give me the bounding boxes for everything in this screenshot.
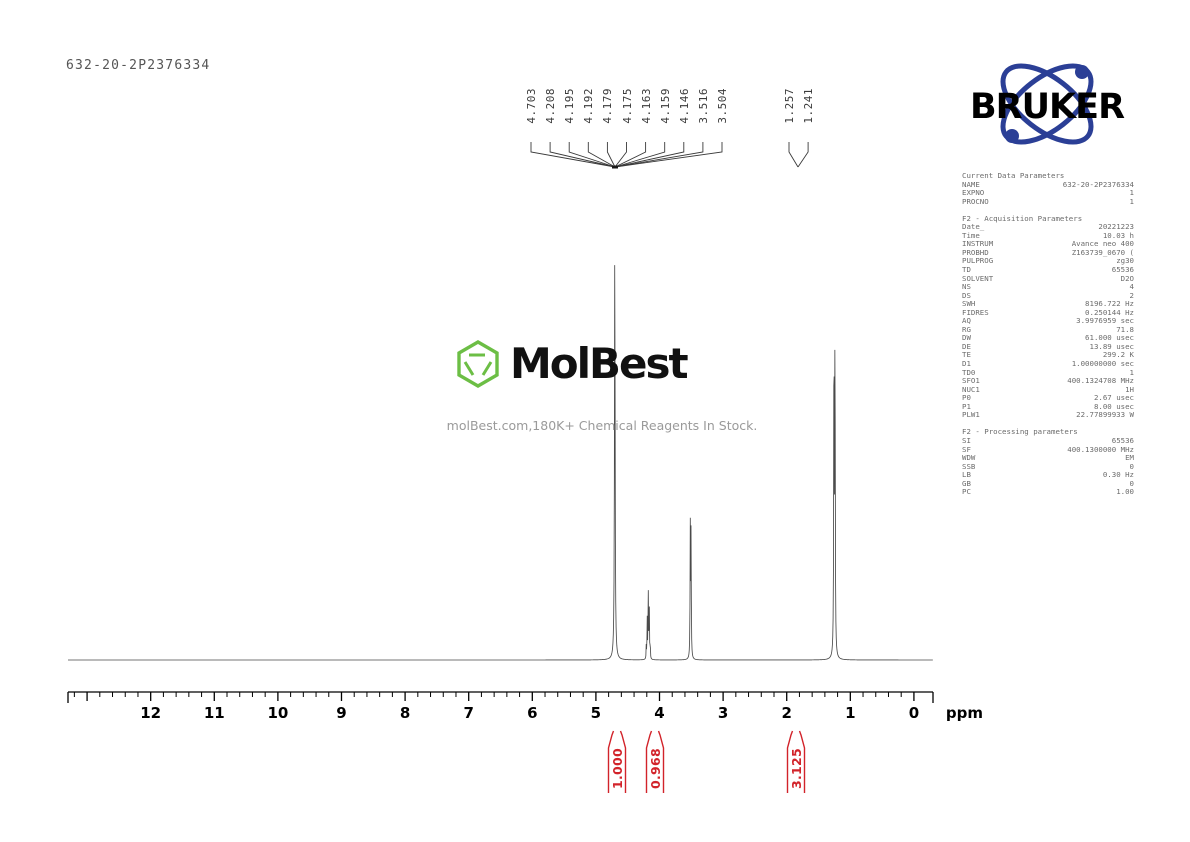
integral-labels: 1.0000.9683.125 (0, 0, 1190, 842)
integral-value: 0.968 (648, 748, 663, 789)
nmr-spectrum-page: 632-20-2P2376334 BRUKER Current Data Par… (0, 0, 1190, 842)
integral-value: 1.000 (610, 748, 625, 789)
integral-value: 3.125 (789, 748, 804, 789)
